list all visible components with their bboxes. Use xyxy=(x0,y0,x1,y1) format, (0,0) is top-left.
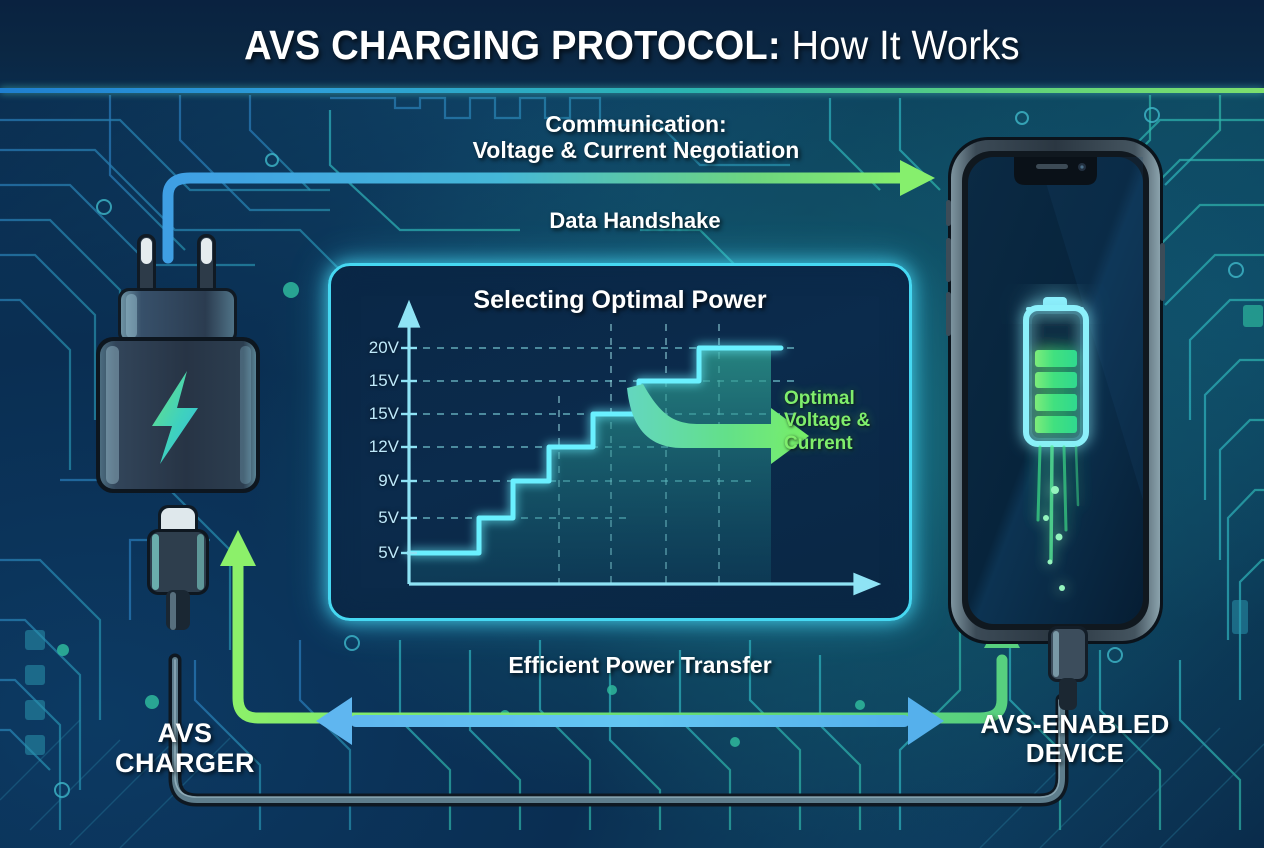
communication-label: Communication: Voltage & Current Negotia… xyxy=(446,112,826,164)
charger-label-line-1: AVS xyxy=(60,718,310,748)
avs-device-label: AVS-ENABLED DEVICE xyxy=(950,710,1200,768)
charger-label-line-2: CHARGER xyxy=(60,748,310,778)
device-label-line-2: DEVICE xyxy=(950,739,1200,768)
y-tick-label-6: 5V xyxy=(345,543,399,563)
title-underline-gradient xyxy=(0,88,1264,93)
optimal-note-line-1: Optimal xyxy=(784,388,904,410)
y-tick-label-4: 9V xyxy=(345,471,399,491)
page-title-bold: AVS CHARGING PROTOCOL: xyxy=(244,22,781,68)
infographic-canvas: AVS CHARGING PROTOCOL: How It Works xyxy=(0,0,1264,848)
y-tick-label-1: 15V xyxy=(345,371,399,391)
y-tick-label-3: 12V xyxy=(345,437,399,457)
data-handshake-label: Data Handshake xyxy=(470,209,800,234)
communication-line-1: Communication: xyxy=(446,112,826,138)
avs-charger-label: AVS CHARGER xyxy=(60,718,310,778)
communication-line-2: Voltage & Current Negotiation xyxy=(446,138,826,164)
chart-area-fill xyxy=(409,348,771,584)
page-title: AVS CHARGING PROTOCOL: How It Works xyxy=(244,22,1020,69)
title-bar: AVS CHARGING PROTOCOL: How It Works xyxy=(0,0,1264,90)
optimal-note-line-3: Current xyxy=(784,433,904,455)
page-title-light: How It Works xyxy=(781,22,1020,68)
y-tick-label-2: 15V xyxy=(345,404,399,424)
efficient-power-transfer-label: Efficient Power Transfer xyxy=(430,653,850,679)
optimal-note-line-2: Voltage & xyxy=(784,410,904,432)
optimal-voltage-current-note: Optimal Voltage & Current xyxy=(784,388,904,455)
device-label-line-1: AVS-ENABLED xyxy=(950,710,1200,739)
y-tick-label-0: 20V xyxy=(345,338,399,358)
y-tick-label-5: 5V xyxy=(345,508,399,528)
